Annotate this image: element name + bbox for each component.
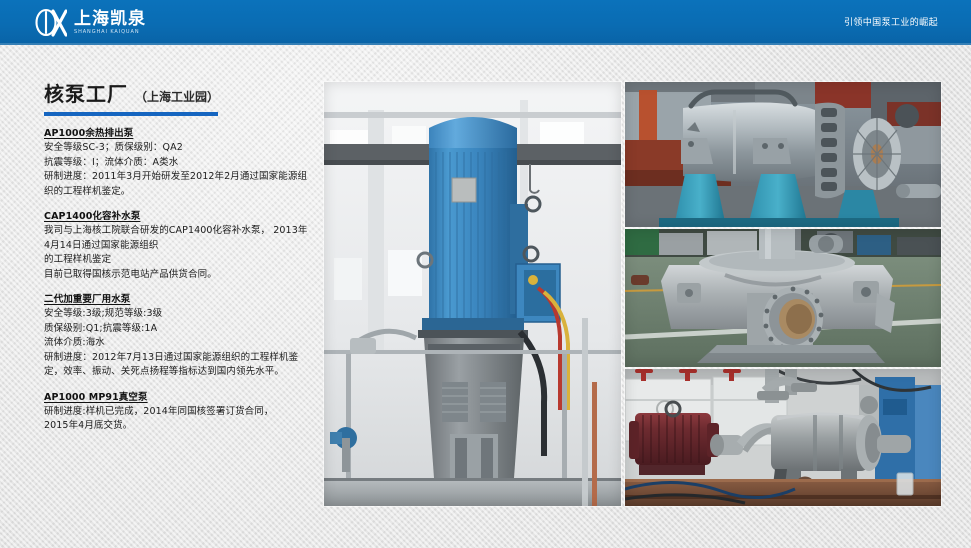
title-row: 核泵工厂 （上海工业园） (44, 82, 309, 107)
photo-grid (324, 82, 941, 506)
section-line: 目前已取得国核示范电站产品供货合同。 (44, 268, 309, 283)
section-heading: CAP1400化容补水泵 (44, 210, 309, 224)
photo-vertical-pump-motor[interactable] (324, 82, 621, 506)
section-line: 抗震等级：Ⅰ；流体介质：A类水 (44, 156, 309, 171)
page-title: 核泵工厂 (44, 82, 128, 106)
section-line: 安全等级:3级;规范等级:3级 (44, 307, 309, 322)
section-line: 定，效率、振动、关死点扬程等指标达到国内领先水平。 (44, 365, 309, 380)
section-line: 的工程样机鉴定 (44, 253, 309, 268)
kaiquan-logo-icon (33, 8, 67, 38)
section-line: 研制进度：2011年3月开始研发至2012年2月通过国家能源组 (44, 170, 309, 185)
section-line: 研制进度:样机已完成，2014年同国核签署订货合同， (44, 405, 309, 420)
section-line: 织的工程样机鉴定。 (44, 185, 309, 200)
section-line: 4月14日通过国家能源组织 (44, 239, 309, 254)
brand-text: 上海凯泉 SHANGHAI KAIQUAN (74, 10, 146, 36)
brand-name-cn: 上海凯泉 (74, 10, 146, 29)
section-line: 研制进度：2012年7月13日通过国家能源组织的工程样机鉴 (44, 351, 309, 366)
section-ap1000-rhr-pump: AP1000余热排出泵 安全等级SC-3；质保级别：QA2 抗震等级：Ⅰ；流体介… (44, 127, 309, 199)
section-cap1400-charging-pump: CAP1400化容补水泵 我司与上海核工院联合研发的CAP1400化容补水泵， … (44, 210, 309, 282)
section-gen2-service-water-pump: 二代加重要厂用水泵 安全等级:3级;规范等级:3级 质保级别:Q1;抗震等级:1… (44, 293, 309, 380)
section-ap1000-mp91-vacuum-pump: AP1000 MP91真空泵 研制进度:样机已完成，2014年同国核签署订货合同… (44, 391, 309, 434)
brand-name-en: SHANGHAI KAIQUAN (74, 29, 146, 36)
photo-test-bed-assembly[interactable] (625, 369, 941, 506)
header-slogan: 引领中国泵工业的崛起 (844, 15, 938, 28)
section-line: 安全等级SC-3；质保级别：QA2 (44, 141, 309, 156)
section-line: 2015年4月底交货。 (44, 419, 309, 434)
section-line: 我司与上海核工院联合研发的CAP1400化容补水泵， 2013年 (44, 224, 309, 239)
section-line: 质保级别:Q1;抗震等级:1A (44, 322, 309, 337)
photo-test-bed-assembly-image (625, 369, 941, 506)
photo-cast-pump-housing-image (625, 229, 941, 367)
brand-logo[interactable]: 上海凯泉 SHANGHAI KAIQUAN (33, 7, 146, 39)
page-subtitle: （上海工业园） (135, 87, 219, 107)
section-heading: AP1000余热排出泵 (44, 127, 309, 141)
photo-stainless-pump-casing[interactable] (625, 82, 941, 227)
section-line: 流体介质:海水 (44, 336, 309, 351)
section-heading: 二代加重要厂用水泵 (44, 293, 309, 307)
photo-cast-pump-housing[interactable] (625, 229, 941, 367)
title-underline-rule (44, 112, 218, 116)
section-heading: AP1000 MP91真空泵 (44, 391, 309, 405)
text-column: 核泵工厂 （上海工业园） AP1000余热排出泵 安全等级SC-3；质保级别：Q… (44, 82, 309, 434)
photo-vertical-pump-motor-image (324, 82, 621, 506)
header-bar: 上海凯泉 SHANGHAI KAIQUAN 引领中国泵工业的崛起 (0, 0, 971, 45)
photo-stainless-pump-casing-image (625, 82, 941, 227)
